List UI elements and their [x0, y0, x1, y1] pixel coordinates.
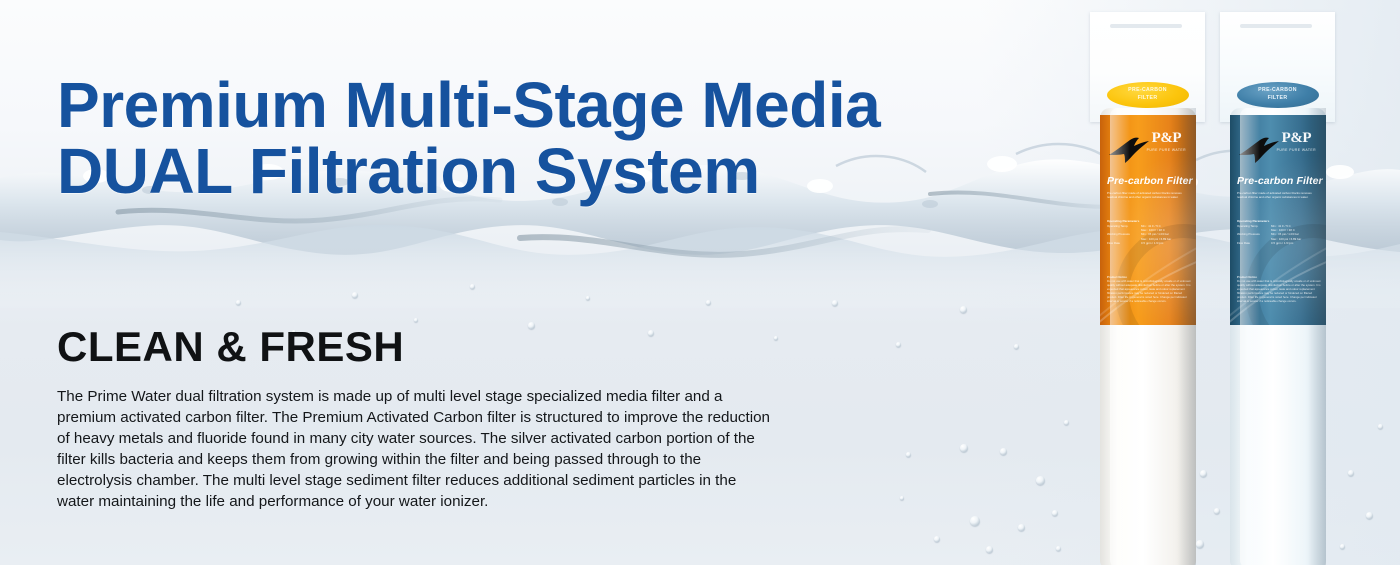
spec-heading: Operating Parameters	[1107, 219, 1191, 223]
pre-carbon-tag-yellow: PRE-CARBON FILTER	[1107, 82, 1189, 108]
tag-line-2: FILTER	[1138, 95, 1158, 103]
spec-block-blue: Operating Parameters Operating Temp. Min…	[1237, 219, 1321, 245]
hang-slot-icon	[1110, 24, 1182, 28]
label-title-orange: Pre-carbon Filter	[1107, 175, 1193, 187]
spec-heading: Operating Parameters	[1237, 219, 1321, 223]
label-title-blue: Pre-carbon Filter	[1237, 175, 1323, 187]
body-paragraph: The Prime Water dual filtration system i…	[57, 386, 777, 512]
label-description-orange: Pre-carbon filter made of activated carb…	[1107, 191, 1189, 200]
spec-value: 0.5 gpm / 1.9 lpm	[1271, 241, 1293, 245]
brand-mark: P&P	[1277, 131, 1316, 146]
tag-line-1: PRE-CARBON	[1128, 87, 1167, 95]
product-banner: Premium Multi-Stage Media DUAL Filtratio…	[0, 0, 1400, 565]
cartridge-label-orange: P&P PURE PURE WATER Pre-carbon Filter Pr…	[1100, 115, 1196, 325]
hang-card-blue: PRE-CARBON FILTER	[1220, 12, 1335, 122]
tag-line-1: PRE-CARBON	[1258, 87, 1297, 95]
label-description-blue: Pre-carbon filter made of activated carb…	[1237, 191, 1319, 200]
brand-subtext: PURE PURE WATER	[1147, 148, 1186, 152]
brand-logo-orange: P&P PURE PURE WATER	[1147, 131, 1186, 152]
footer-text: Do not use with water that is microbiolo…	[1237, 279, 1321, 303]
spec-row: Flow Rate 0.5 gpm / 1.9 lpm	[1237, 241, 1321, 245]
banner-subheadline: CLEAN & FRESH	[57, 323, 404, 371]
spec-block-orange: Operating Parameters Operating Temp. Min…	[1107, 219, 1191, 245]
headline-line-1: Premium Multi-Stage Media	[57, 69, 880, 141]
spec-key: Flow Rate	[1237, 241, 1267, 245]
spec-value: 0.5 gpm / 1.9 lpm	[1141, 241, 1163, 245]
banner-headline: Premium Multi-Stage Media DUAL Filtratio…	[57, 8, 1007, 269]
filter-cartridge-blue[interactable]: PRE-CARBON FILTER	[1230, 0, 1326, 565]
banner-body-copy: The Prime Water dual filtration system i…	[57, 386, 777, 512]
brand-subtext: PURE PURE WATER	[1277, 148, 1316, 152]
label-footer-blue: Product Notice Do not use with water tha…	[1237, 275, 1321, 303]
spec-row: Flow Rate 0.5 gpm / 1.9 lpm	[1107, 241, 1191, 245]
product-image-group: PRE-CARBON FILTER	[1078, 0, 1400, 565]
brand-logo-blue: P&P PURE PURE WATER	[1277, 131, 1316, 152]
pre-carbon-tag-blue: PRE-CARBON FILTER	[1237, 82, 1319, 108]
footer-text: Do not use with water that is microbiolo…	[1107, 279, 1191, 303]
headline-line-2: DUAL Filtration System	[57, 139, 1007, 204]
hang-card-orange: PRE-CARBON FILTER	[1090, 12, 1205, 122]
spec-key: Flow Rate	[1107, 241, 1137, 245]
brand-mark: P&P	[1147, 131, 1186, 146]
tag-line-2: FILTER	[1268, 95, 1288, 103]
cartridge-label-blue: P&P PURE PURE WATER Pre-carbon Filter Pr…	[1230, 115, 1326, 325]
label-footer-orange: Product Notice Do not use with water tha…	[1107, 275, 1191, 303]
filter-cartridge-orange[interactable]: PRE-CARBON FILTER	[1100, 0, 1196, 565]
hang-slot-icon	[1240, 24, 1312, 28]
